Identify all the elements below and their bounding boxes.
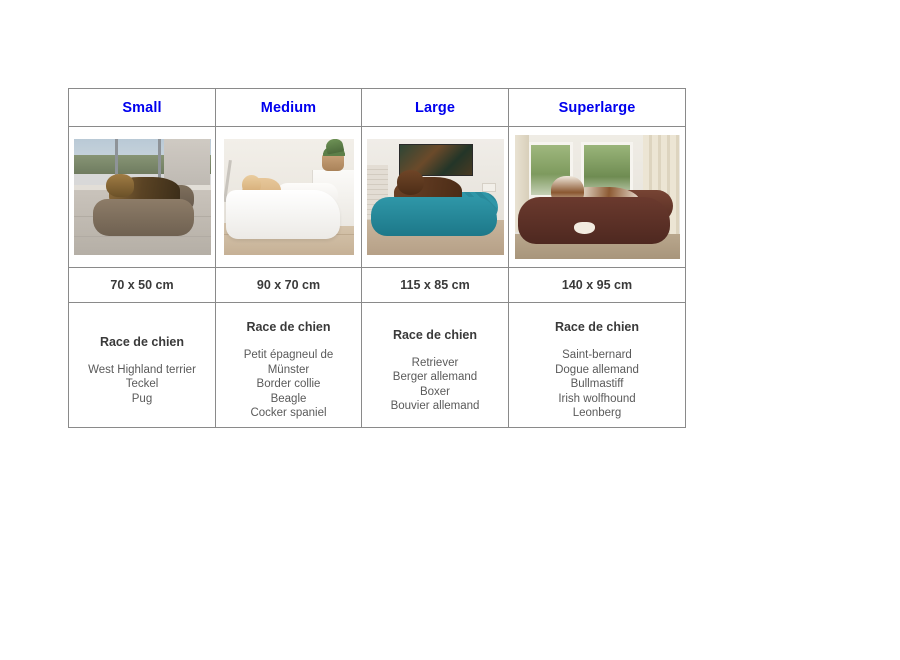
breed-item: Dogue allemand — [555, 363, 639, 378]
breed-item: Berger allemand — [391, 370, 480, 385]
page-canvas: Small Medium Large Superlarge — [0, 0, 900, 660]
header-cell-small: Small — [69, 89, 216, 127]
breed-item: Pug — [88, 392, 196, 407]
header-cell-superlarge: Superlarge — [509, 89, 686, 127]
breed-cell-large: Race de chien RetrieverBerger allemandBo… — [362, 303, 509, 428]
breed-item: Saint-bernard — [555, 348, 639, 363]
breed-list-small: West Highland terrierTeckelPug — [88, 363, 196, 407]
breed-cell-small: Race de chien West Highland terrierTecke… — [69, 303, 216, 428]
dog-bed-size-table: Small Medium Large Superlarge — [68, 88, 686, 428]
breed-item: Leonberg — [555, 406, 639, 421]
breed-title-superlarge: Race de chien — [555, 320, 639, 334]
size-header-superlarge: Superlarge — [559, 100, 636, 116]
product-photo-superlarge — [515, 135, 680, 259]
dimension-large: 115 x 85 cm — [400, 278, 470, 292]
photo-cell-large — [362, 127, 509, 268]
photo-cell-small — [69, 127, 216, 268]
header-cell-large: Large — [362, 89, 509, 127]
breed-list-large: RetrieverBerger allemandBoxerBouvier all… — [391, 356, 480, 414]
photo-cell-superlarge — [509, 127, 686, 268]
breed-item: Beagle — [226, 392, 352, 407]
size-header-large: Large — [415, 100, 455, 116]
breed-list-medium: Petit épagneul de MünsterBorder collieBe… — [226, 348, 352, 421]
product-photo-small — [74, 139, 211, 255]
table-header-row: Small Medium Large Superlarge — [69, 89, 686, 127]
breed-title-large: Race de chien — [393, 328, 477, 342]
dimension-medium: 90 x 70 cm — [257, 278, 320, 292]
dimension-superlarge: 140 x 95 cm — [562, 278, 632, 292]
header-cell-medium: Medium — [216, 89, 362, 127]
breed-title-medium: Race de chien — [246, 320, 330, 334]
breed-title-small: Race de chien — [100, 335, 184, 349]
breed-item: Retriever — [391, 356, 480, 371]
product-photo-medium — [224, 139, 354, 255]
dimension-cell-superlarge: 140 x 95 cm — [509, 268, 686, 303]
breed-item: Irish wolfhound — [555, 392, 639, 407]
table-breed-row: Race de chien West Highland terrierTecke… — [69, 303, 686, 428]
size-header-medium: Medium — [261, 100, 316, 116]
photo-cell-medium — [216, 127, 362, 268]
dimension-cell-large: 115 x 85 cm — [362, 268, 509, 303]
breed-item: Teckel — [88, 377, 196, 392]
product-photo-large — [367, 139, 504, 255]
dimension-cell-small: 70 x 50 cm — [69, 268, 216, 303]
breed-item: Bouvier allemand — [391, 399, 480, 414]
breed-list-superlarge: Saint-bernardDogue allemandBullmastiffIr… — [555, 348, 639, 421]
breed-item: Cocker spaniel — [226, 406, 352, 421]
breed-cell-medium: Race de chien Petit épagneul de MünsterB… — [216, 303, 362, 428]
dimension-small: 70 x 50 cm — [110, 278, 173, 292]
table-photo-row — [69, 127, 686, 268]
breed-cell-superlarge: Race de chien Saint-bernardDogue alleman… — [509, 303, 686, 428]
breed-item: Border collie — [226, 377, 352, 392]
breed-item: Bullmastiff — [555, 377, 639, 392]
breed-item: West Highland terrier — [88, 363, 196, 378]
breed-item: Boxer — [391, 385, 480, 400]
table-dimension-row: 70 x 50 cm 90 x 70 cm 115 x 85 cm 140 x … — [69, 268, 686, 303]
breed-item: Petit épagneul de Münster — [226, 348, 352, 377]
dimension-cell-medium: 90 x 70 cm — [216, 268, 362, 303]
size-header-small: Small — [122, 100, 161, 116]
